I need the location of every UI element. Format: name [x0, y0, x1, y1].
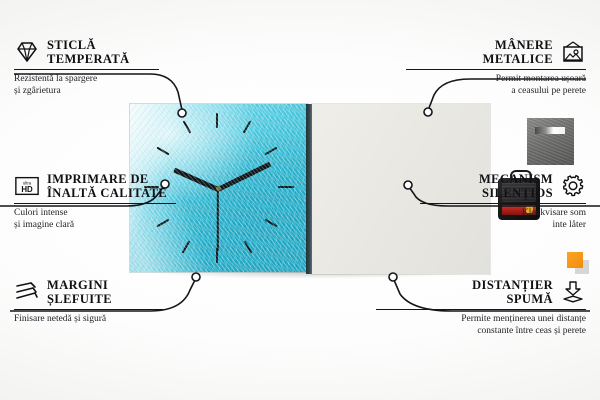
- callout-tempered-glass: STICLĂ TEMPERATĂ Rezistentă la spargere …: [14, 38, 194, 97]
- callout-title: MECANISM SILENȚIOS: [479, 172, 553, 200]
- callout-subtitle-line1: Permite menținerea unei distanțe: [376, 314, 586, 326]
- callout-subtitle-line1: Rezistentă la spargere: [14, 74, 194, 86]
- callout-header: MARGINI ȘLEFUITE: [14, 278, 204, 306]
- callout-header: STICLĂ TEMPERATĂ: [14, 38, 194, 66]
- callout-polished-edges: MARGINI ȘLEFUITE Finisare netedă și sigu…: [14, 278, 204, 326]
- foam-spacer-arrow-icon: [560, 280, 586, 304]
- clock-tick: [278, 186, 294, 188]
- callout-title: MÂNERE METALICE: [483, 38, 553, 66]
- callout-subtitle-line1: Permit montarea ușoară: [406, 74, 586, 86]
- callout-rule: [14, 69, 159, 70]
- clock-tick: [243, 120, 252, 133]
- callout-rule: [420, 203, 586, 204]
- clock-tick: [216, 113, 218, 128]
- callout-hd-print: ultra HD IMPRIMARE DE ÎNALTĂ CALITATE Cu…: [14, 172, 204, 231]
- callout-subtitle-line1: Culori intense: [14, 208, 204, 220]
- callout-title: IMPRIMARE DE ÎNALTĂ CALITATE: [47, 172, 167, 200]
- callout-subtitle-line2: și zgârietura: [14, 86, 194, 98]
- callout-subtitle-line2: și imagine clară: [14, 220, 204, 232]
- callout-rule: [14, 203, 176, 204]
- metal-hanger-plate: [527, 118, 574, 165]
- infographic-canvas: STICLĂ TEMPERATĂ Rezistentă la spargere …: [0, 0, 600, 400]
- callout-header: MECANISM SILENȚIOS: [420, 172, 586, 200]
- clock-tick: [182, 240, 191, 253]
- gear-icon: [560, 174, 586, 198]
- clock-tick: [156, 147, 169, 156]
- callout-title: MARGINI ȘLEFUITE: [47, 278, 112, 306]
- callout-subtitle-line2: constante între ceas și perete: [376, 326, 586, 338]
- clock-second-hand: [217, 189, 219, 251]
- diamond-icon: [14, 40, 40, 64]
- callout-rule: [406, 69, 586, 70]
- clock-tick: [264, 147, 277, 156]
- callout-silent-mechanism: MECANISM SILENȚIOS Klockvisare som inte …: [420, 172, 586, 231]
- callout-title: STICLĂ TEMPERATĂ: [47, 38, 130, 66]
- callout-subtitle-line2: inte låter: [420, 220, 586, 232]
- callout-subtitle-line1: Klockvisare som: [420, 208, 586, 220]
- callout-header: DISTANȚIER SPUMĂ: [376, 278, 586, 306]
- callout-header: MÂNERE METALICE: [406, 38, 586, 66]
- callout-title: DISTANȚIER SPUMĂ: [472, 278, 553, 306]
- clock-tick: [244, 240, 253, 253]
- clock-minute-hand: [217, 162, 271, 192]
- callout-rule: [14, 309, 164, 310]
- callout-subtitle-line1: Finisare netedă și sigură: [14, 314, 204, 326]
- clock-tick: [264, 219, 277, 228]
- foam-spacer: [567, 252, 583, 268]
- hanger-slot: [535, 127, 565, 134]
- svg-text:HD: HD: [21, 185, 33, 194]
- clock-tick: [183, 120, 192, 133]
- ultra-hd-icon: ultra HD: [14, 174, 40, 198]
- callout-metal-handles: MÂNERE METALICE Permit montarea ușoară a…: [406, 38, 586, 97]
- clock-tick: [216, 248, 218, 263]
- polished-edges-icon: [14, 280, 40, 304]
- callout-header: ultra HD IMPRIMARE DE ÎNALTĂ CALITATE: [14, 172, 204, 200]
- callout-foam-spacer: DISTANȚIER SPUMĂ Permite menținerea unei…: [376, 278, 586, 337]
- callout-subtitle-line2: a ceasului pe perete: [406, 86, 586, 98]
- callout-rule: [376, 309, 586, 310]
- picture-hanger-icon: [560, 40, 586, 64]
- clock-hand-hub: [216, 186, 221, 191]
